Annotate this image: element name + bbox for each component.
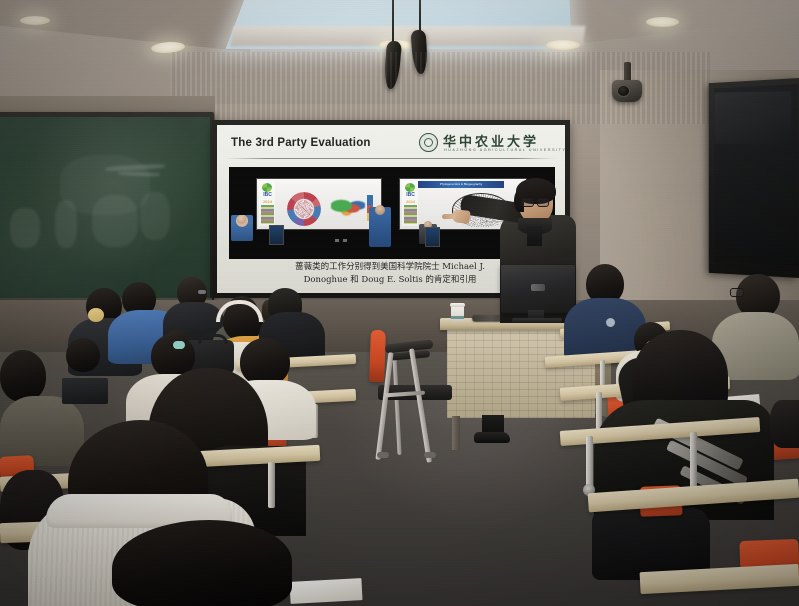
slide-title-rule <box>227 158 555 159</box>
cup-band <box>451 316 464 319</box>
chair-foot <box>424 452 436 458</box>
student-badge <box>606 318 615 327</box>
downlight-icon <box>546 40 580 50</box>
student-head <box>240 338 290 386</box>
video-participant-head <box>375 205 385 215</box>
ibc-label: IBC <box>260 193 275 198</box>
floor-reflection <box>330 400 630 530</box>
presenter-shoe <box>474 432 510 443</box>
podium-leg <box>452 416 460 450</box>
lecture-hall-photo: The 3rd Party Evaluation 华中农业大学 HUAZHONG… <box>0 0 799 606</box>
circular-phylogeny-inner <box>295 200 313 218</box>
video-thumbnail <box>425 227 440 247</box>
chair-foot <box>377 452 389 458</box>
hair-scrunchie <box>88 308 104 322</box>
monitor-stand-base <box>512 318 562 323</box>
leaf-icon <box>405 183 415 192</box>
paper-sheet <box>289 578 362 604</box>
student-head <box>0 350 46 402</box>
slide-header-bar: Phylogenomics & Biogeography <box>418 181 504 188</box>
camera-lens-icon <box>617 85 630 97</box>
backpack-strap <box>198 334 228 344</box>
student-head <box>66 338 100 372</box>
laptop <box>62 378 108 404</box>
university-name-en: HUAZHONG AGRICULTURAL UNIVERSITY <box>444 148 565 152</box>
ibc-year: 2024 <box>403 199 418 204</box>
desk-leg <box>268 462 275 508</box>
folding-chair-back <box>369 330 386 382</box>
conference-slide-left: IBC 2024 <box>256 178 382 230</box>
cup-lid <box>450 303 465 307</box>
display-glare <box>714 91 791 144</box>
presenter-pointing-finger <box>442 214 455 219</box>
hair-tie <box>173 341 185 349</box>
slide-title: The 3rd Party Evaluation <box>231 137 371 149</box>
world-map-diagram <box>331 197 365 219</box>
video-indicator <box>343 239 347 242</box>
ibc-label: IBC <box>403 193 418 198</box>
ibc-badge-right: IBC 2024 <box>402 181 418 226</box>
slide-header-text: Phylogenomics & Biogeography <box>418 182 504 186</box>
ibc-color-bars <box>261 205 274 224</box>
glasses-icon <box>521 198 534 207</box>
glasses-bridge <box>533 201 538 202</box>
presenter-shirt <box>527 226 542 246</box>
student-head <box>770 400 799 448</box>
video-participant-head <box>237 215 246 224</box>
chalk-smudge <box>140 192 170 240</box>
chalk-smudge <box>92 195 138 247</box>
chalk-smudge <box>10 208 40 248</box>
university-seal-icon <box>419 133 438 152</box>
glasses-icon <box>198 290 206 294</box>
downlight-icon <box>20 16 50 25</box>
monitor-logo <box>531 284 545 291</box>
glasses-icon <box>537 198 549 207</box>
glasses-icon <box>730 288 744 297</box>
desk-leg <box>586 436 593 488</box>
ibc-year: 2024 <box>260 199 275 204</box>
ibc-color-bars <box>404 205 417 224</box>
chalk-smudge <box>55 200 77 248</box>
video-indicator <box>335 239 339 242</box>
university-logo: 华中农业大学 HUAZHONG AGRICULTURAL UNIVERSITY <box>419 131 555 157</box>
ibc-badge-left: IBC 2024 <box>259 181 275 226</box>
downlight-icon <box>646 17 679 27</box>
leaf-icon <box>262 183 272 192</box>
desk-leg <box>690 432 697 490</box>
video-thumbnail <box>269 225 284 245</box>
coffee-cup-icon <box>451 305 464 322</box>
